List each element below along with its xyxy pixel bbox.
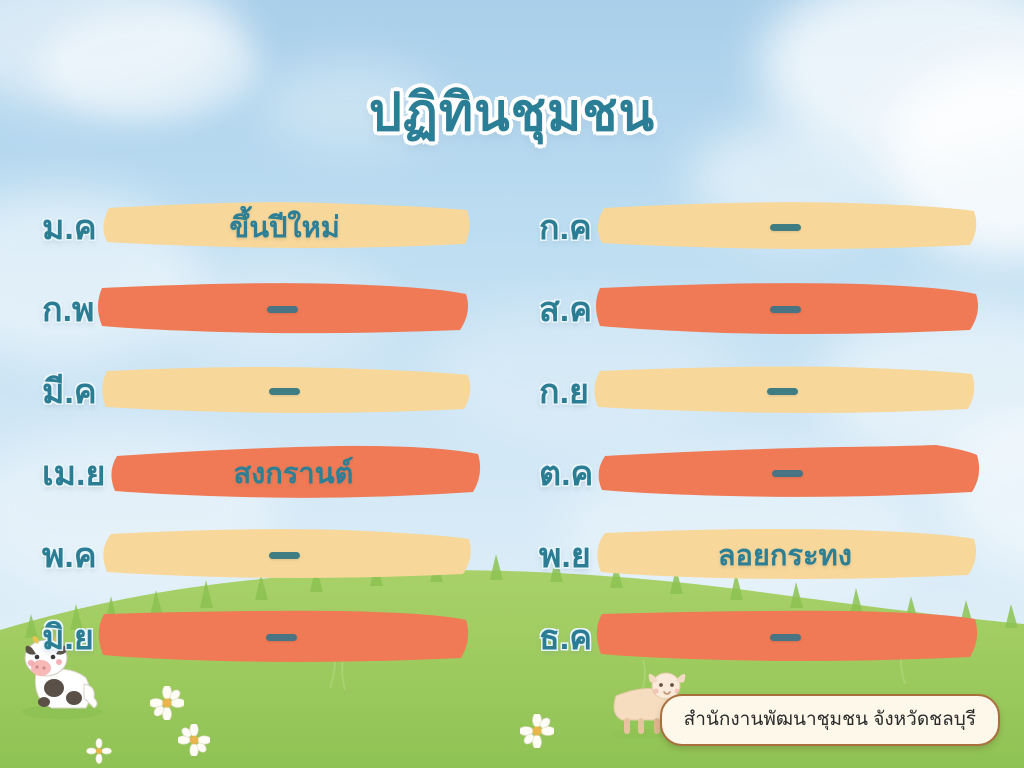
- month-label: ก.ย: [539, 364, 591, 418]
- event-bar[interactable]: ลอยกระทง: [589, 526, 981, 584]
- calendar-column-right: ก.ค ส.ค ก.ย: [527, 186, 1024, 686]
- event-bar[interactable]: [590, 280, 982, 338]
- no-event-dash: [770, 224, 801, 231]
- month-label: ต.ค: [539, 446, 595, 500]
- month-label: มี.ค: [42, 364, 99, 418]
- no-event-dash: [269, 388, 300, 395]
- no-event-dash: [767, 388, 798, 395]
- footer-badge: สำนักงานพัฒนาชุมชน จังหวัดชลบุรี: [660, 694, 1000, 746]
- event-bar[interactable]: [587, 362, 979, 420]
- event-label: ขึ้นปีใหม่: [229, 204, 339, 250]
- daisy-flower: [86, 738, 112, 764]
- event-bar[interactable]: [590, 198, 982, 256]
- event-bar[interactable]: [95, 362, 475, 420]
- daisy-flower: [178, 724, 210, 756]
- event-bar[interactable]: [590, 608, 982, 666]
- daisy-flower: [520, 714, 554, 748]
- no-event-dash: [772, 470, 803, 477]
- month-label: มิ.ย: [42, 610, 96, 664]
- event-bar[interactable]: สงกรานต์: [103, 444, 483, 502]
- event-bar[interactable]: [591, 444, 983, 502]
- calendar-column-left: ม.ค ขึ้นปีใหม่ ก.พ มี.ค: [0, 186, 497, 686]
- month-label: พ.ค: [42, 528, 99, 582]
- month-label: พ.ย: [539, 528, 593, 582]
- month-label: ส.ค: [539, 282, 594, 336]
- calendar-row[interactable]: ก.ย: [527, 350, 1024, 432]
- calendar-row[interactable]: ส.ค: [527, 268, 1024, 350]
- calendar-row[interactable]: ม.ค ขึ้นปีใหม่: [0, 186, 497, 268]
- event-bar[interactable]: [95, 526, 475, 584]
- event-bar[interactable]: [92, 608, 472, 666]
- month-label: ธ.ค: [539, 610, 594, 664]
- calendar-grid: ม.ค ขึ้นปีใหม่ ก.พ มี.ค: [0, 186, 1024, 686]
- calendar-row[interactable]: ก.ค: [527, 186, 1024, 268]
- month-label: ก.พ: [42, 282, 96, 336]
- no-event-dash: [770, 306, 801, 313]
- month-label: ก.ค: [539, 200, 594, 254]
- calendar-row[interactable]: ต.ค: [527, 432, 1024, 514]
- calendar-row[interactable]: ก.พ: [0, 268, 497, 350]
- event-label: ลอยกระทง: [718, 532, 852, 578]
- month-label: เม.ย: [42, 446, 107, 500]
- page-title: ปฏิทินชุมชน: [0, 82, 1024, 144]
- event-label: สงกรานต์: [233, 450, 353, 496]
- no-event-dash: [267, 306, 298, 313]
- slide-canvas: ปฏิทินชุมชน ม.ค ขึ้นปีใหม่ ก.พ: [0, 0, 1024, 768]
- no-event-dash: [266, 634, 297, 641]
- event-bar[interactable]: ขึ้นปีใหม่: [95, 198, 475, 256]
- calendar-row[interactable]: พ.ค: [0, 514, 497, 596]
- event-bar[interactable]: [92, 280, 472, 338]
- no-event-dash: [770, 634, 801, 641]
- calendar-row[interactable]: มี.ค: [0, 350, 497, 432]
- calendar-row[interactable]: เม.ย สงกรานต์: [0, 432, 497, 514]
- calendar-row[interactable]: ธ.ค: [527, 596, 1024, 678]
- calendar-row[interactable]: พ.ย ลอยกระทง: [527, 514, 1024, 596]
- daisy-flower: [150, 686, 184, 720]
- no-event-dash: [269, 552, 300, 559]
- month-label: ม.ค: [42, 200, 99, 254]
